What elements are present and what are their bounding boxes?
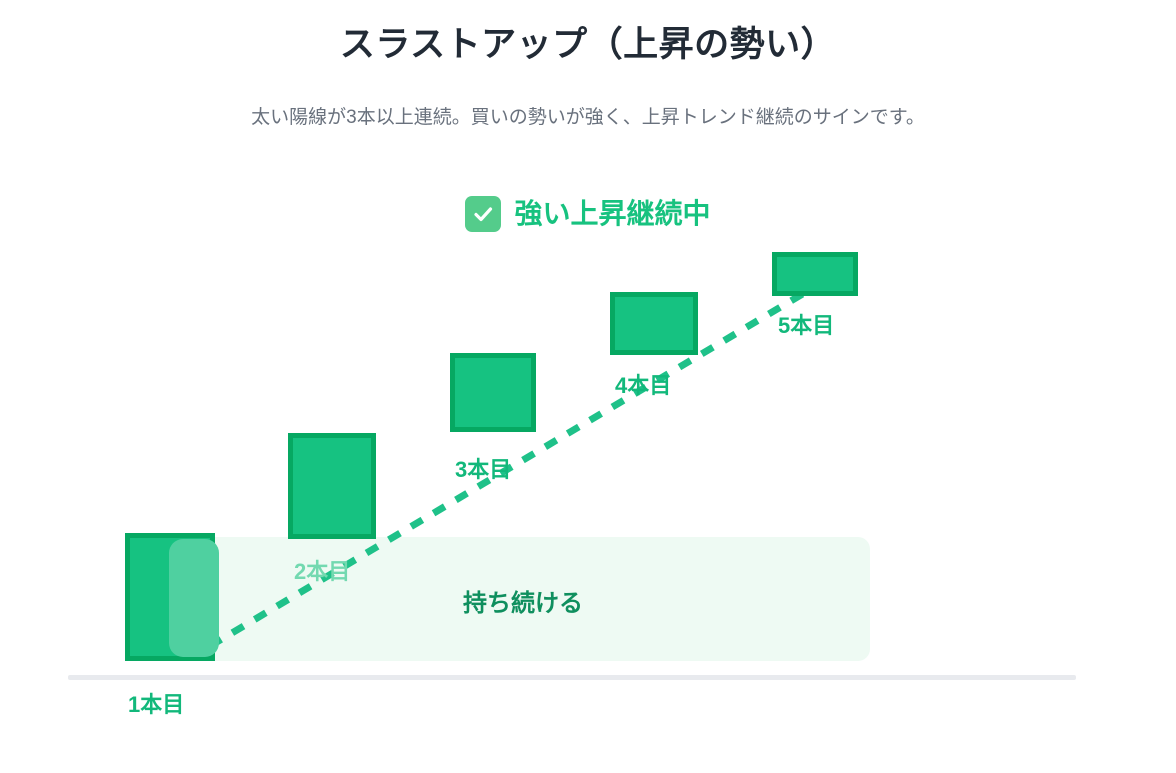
chart-baseline: [68, 675, 1076, 680]
candlestick-chart: 持ち続ける 1本目2本目3本目4本目5本目: [0, 0, 1176, 773]
candle-body: [450, 353, 536, 432]
hold-zone-label: 持ち続ける: [176, 583, 870, 618]
candle-body: [772, 252, 858, 296]
candle-label-5: 5本目: [778, 308, 834, 340]
candle-highlight: [169, 539, 219, 657]
candle-label-4: 4本目: [615, 368, 671, 400]
candle-body: [610, 292, 698, 355]
candle-label-1: 1本目: [128, 687, 184, 719]
candle-body: [288, 433, 376, 539]
candle-label-2: 2本目: [294, 554, 350, 586]
candle-label-3: 3本目: [455, 452, 511, 484]
thrust-up-pattern-page: スラストアップ（上昇の勢い） 太い陽線が3本以上連続。買いの勢いが強く、上昇トレ…: [0, 0, 1176, 773]
